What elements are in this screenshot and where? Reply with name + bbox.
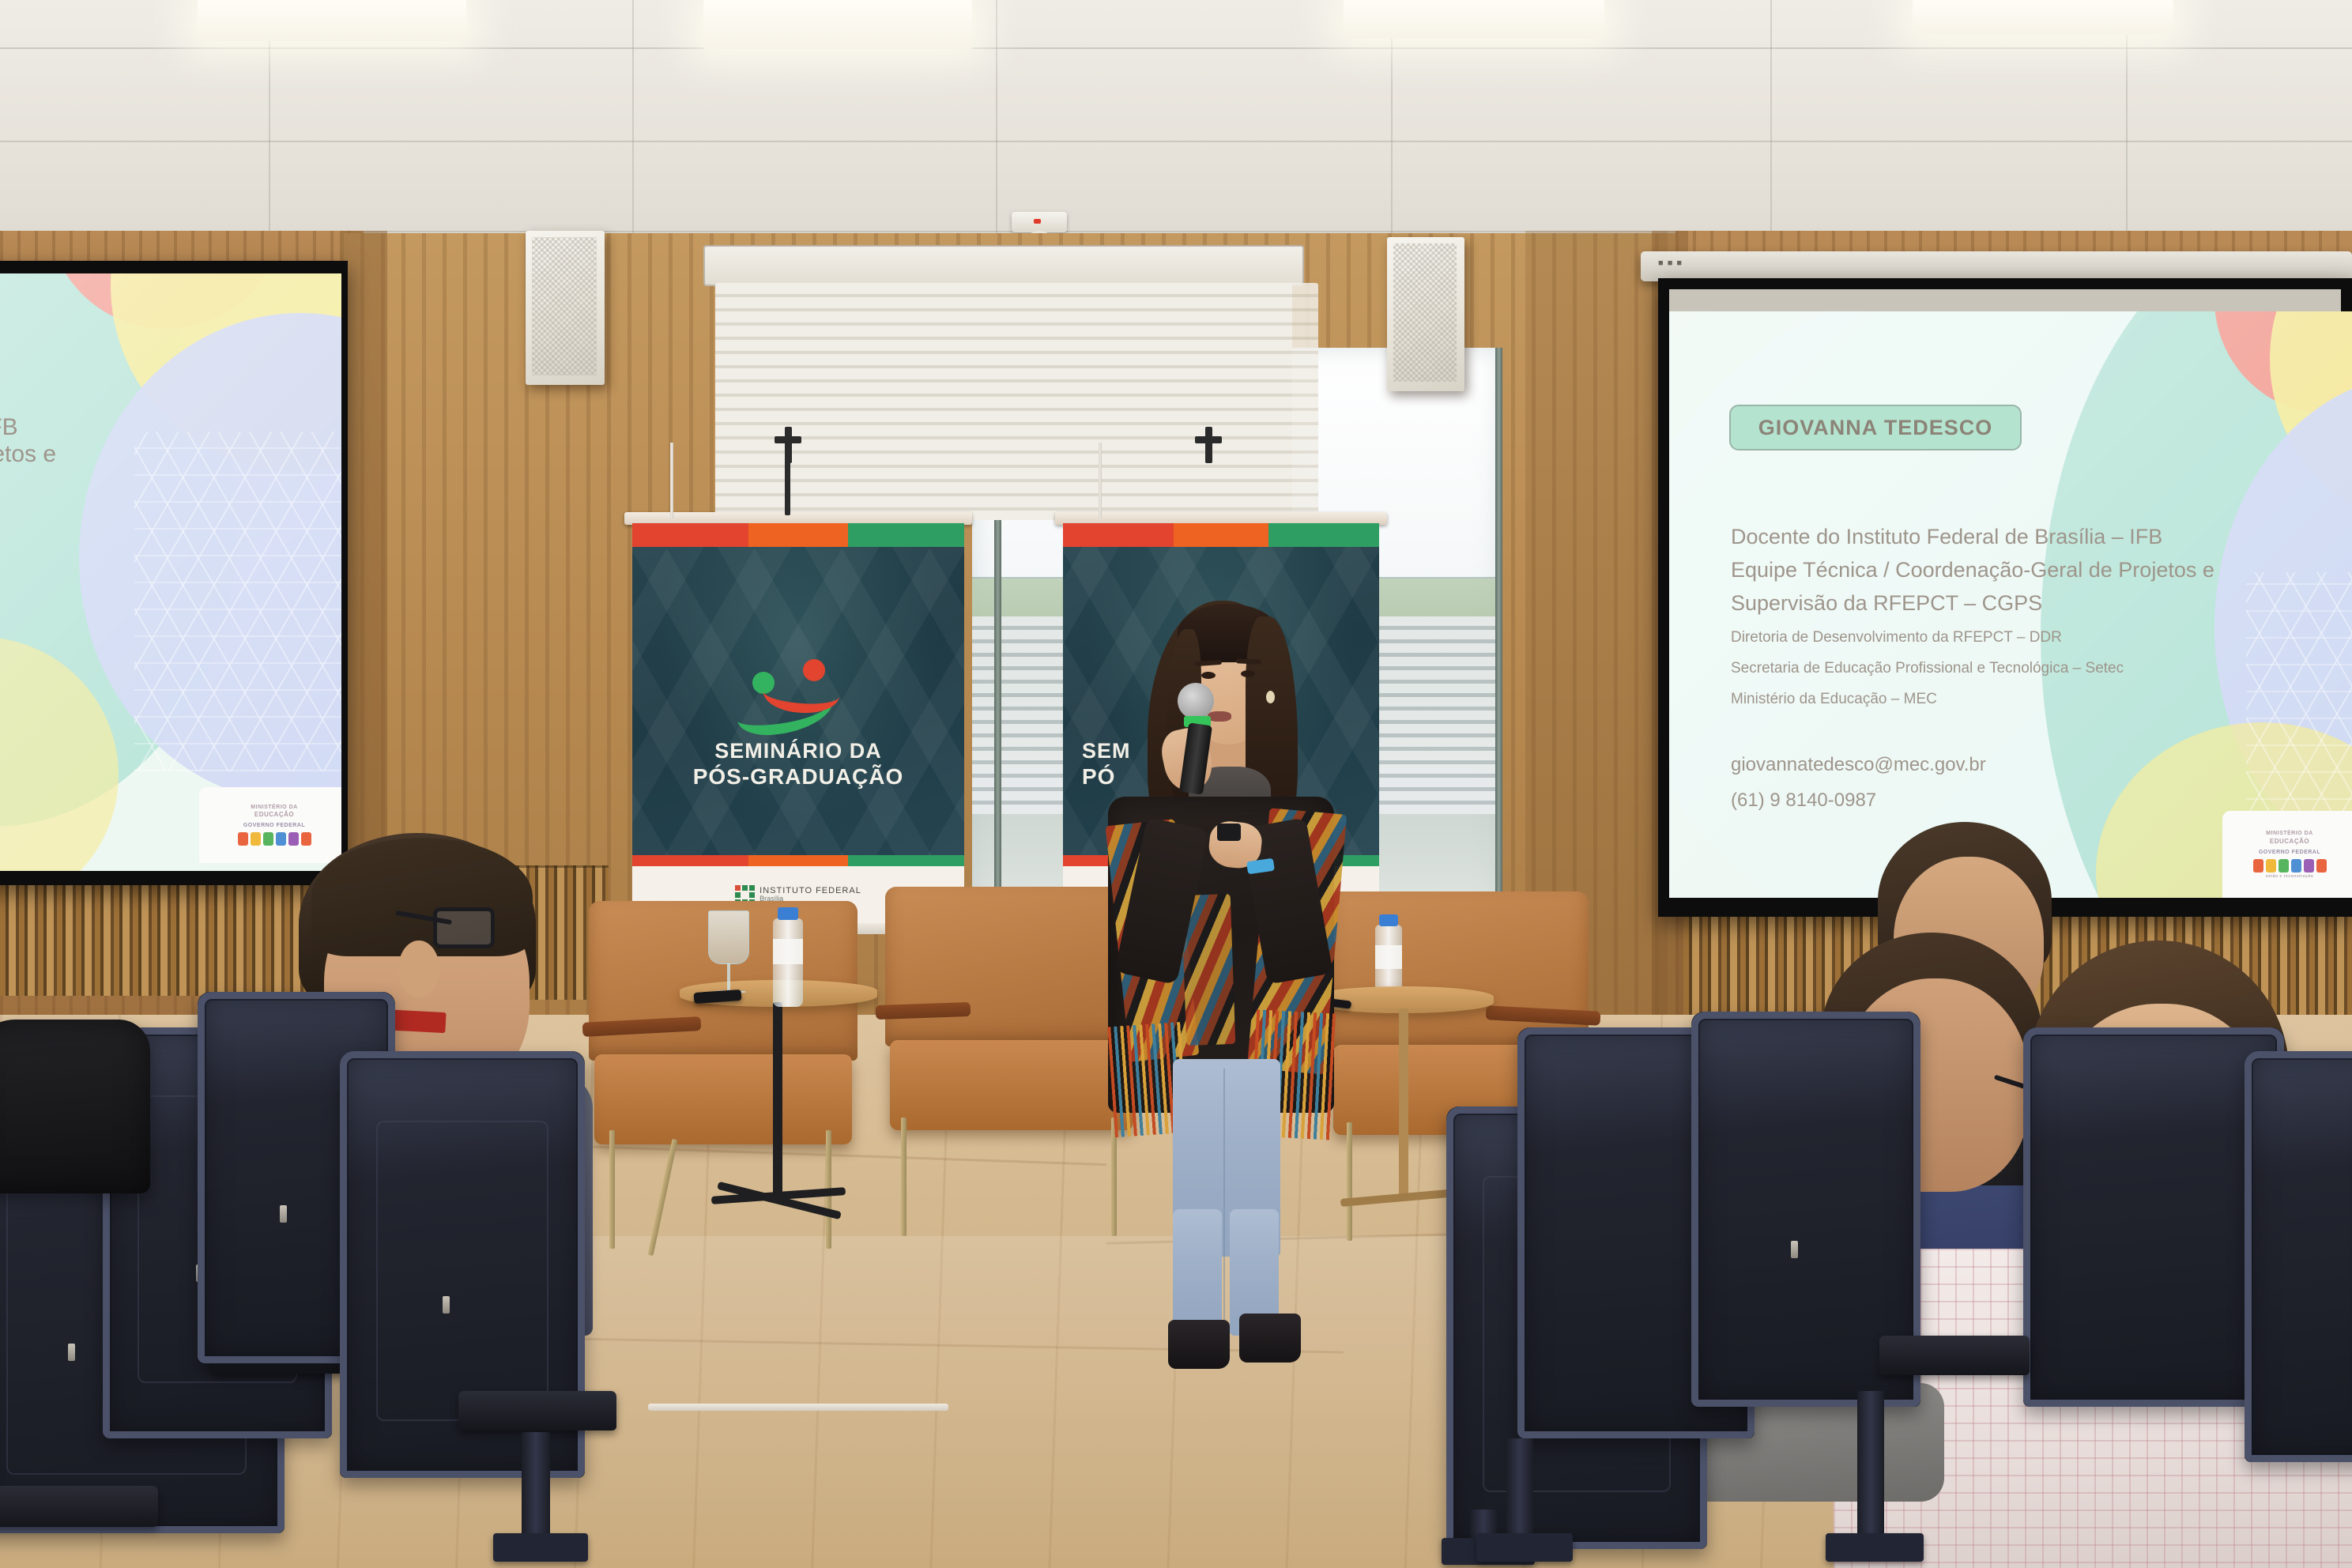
seat-armrest (0, 1486, 158, 1527)
seat-armrest (458, 1391, 616, 1430)
seat-panel-line (376, 1121, 548, 1421)
seat-number-tag (68, 1344, 75, 1361)
presenter-eye (1201, 672, 1216, 679)
banner-pole-stem (785, 443, 790, 515)
if-logo-text: INSTITUTO FEDERAL Brasília (759, 887, 861, 903)
seat-number-tag (1791, 1241, 1798, 1258)
ceiling-light-panel (1913, 0, 2173, 35)
ministry-line-1: MINISTÉRIO DA (2266, 831, 2312, 837)
government-label: GOVERNO FEDERAL (2259, 850, 2320, 856)
slide-primary-line-2: Equipe Técnica / Coordenação-Geral de Pr… (1731, 558, 2214, 582)
water-glass-stem (727, 963, 730, 992)
window-blind-housing[interactable] (703, 245, 1304, 286)
banner-top-stripe (632, 523, 964, 547)
attendee-left-ear (398, 940, 439, 997)
presenter (1091, 585, 1359, 1304)
ceiling-grid-line (996, 0, 997, 237)
slide-left: IFB rojetos e MINISTÉRIO DA EDUCAÇÃO GOV… (0, 273, 341, 871)
water-glass[interactable] (708, 910, 749, 964)
ceiling-grid-line (632, 0, 634, 237)
presenter-eye (1241, 670, 1255, 677)
window-mullion (1495, 348, 1502, 948)
slide-primary-line-3: Supervisão da RFEPCT – CGPS (1731, 591, 2042, 616)
side-table-stem (1399, 1008, 1408, 1197)
projection-screen-left: IFB rojetos e MINISTÉRIO DA EDUCAÇÃO GOV… (0, 261, 348, 885)
screen-border (1669, 289, 2341, 311)
slide-email: giovannatedesco@mec.gov.br (1731, 754, 1986, 776)
slide-secondary-line-1: Diretoria de Desenvolvimento da RFEPCT –… (1731, 629, 2062, 646)
wall-speaker-right (1387, 237, 1464, 391)
ministry-line-2: EDUCAÇÃO (2270, 838, 2309, 845)
presenter-jeans-seam (1223, 1069, 1225, 1329)
presenter-boot-left (1168, 1320, 1230, 1369)
slide-phone: (61) 9 8140-0987 (1731, 790, 1876, 812)
seat-pedestal (1857, 1391, 1884, 1541)
banner-title-line-1: SEMINÁRIO DA (632, 740, 964, 763)
slide-text-fragment-ifb: IFB (0, 414, 18, 441)
ceiling-grid-line (1770, 0, 1772, 237)
ceiling-grid-line (0, 141, 2352, 142)
seat-base-plate (1476, 1533, 1573, 1562)
banner-body: SEMINÁRIO DA PÓS-GRADUAÇÃO (632, 547, 964, 855)
banner-bottom-stripe (632, 855, 964, 866)
presentation-clicker[interactable] (1217, 824, 1241, 841)
armchair-leg (901, 1118, 906, 1236)
side-table-stem (773, 1002, 782, 1197)
seat-number-tag (443, 1296, 450, 1314)
banner-pole-left (670, 443, 673, 518)
slide-name-badge-text: GIOVANNA TEDESCO (1758, 416, 1993, 440)
ceiling-light-panel (1344, 0, 1604, 38)
ceiling-light-panel (703, 0, 972, 49)
auditorium-seat[interactable] (2245, 1051, 2352, 1462)
projection-screen-right: GIOVANNA TEDESCO Docente do Instituto Fe… (1658, 278, 2352, 917)
slide-footer-logo-right: MINISTÉRIO DA EDUCAÇÃO GOVERNO FEDERAL u… (2222, 811, 2352, 898)
presenter-earring (1266, 691, 1275, 703)
coat-body (0, 1020, 150, 1193)
ceiling-grid-line (2126, 0, 2128, 237)
seat-base-plate (493, 1533, 588, 1562)
slide-text-fragment-projetos: rojetos e (0, 441, 56, 468)
water-bottle-cap (778, 907, 798, 920)
banner-pole-stem (1205, 427, 1212, 463)
armchair-leg (647, 1139, 677, 1256)
slide-name-badge: GIOVANNA TEDESCO (1729, 405, 2022, 450)
banner-pole-right (1099, 443, 1102, 518)
draped-coat (0, 1020, 150, 1193)
slide-geometric-pattern (134, 432, 341, 771)
camera-led-icon (1034, 219, 1041, 224)
slide-right: GIOVANNA TEDESCO Docente do Instituto Fe… (1669, 311, 2352, 898)
water-bottle-label-right (1375, 945, 1402, 969)
screen-housing-label: ■ ■ ■ (1658, 258, 1683, 268)
projection-screen-housing-right[interactable]: ■ ■ ■ (1641, 251, 2352, 281)
wall-speaker-left (526, 231, 605, 385)
attendee-left-hair-top (311, 838, 533, 956)
photo-scene: IFB rojetos e MINISTÉRIO DA EDUCAÇÃO GOV… (0, 0, 2352, 1568)
window-blind-slats[interactable] (715, 283, 1292, 520)
water-bottle-cap-right (1379, 914, 1398, 926)
seat-frame (2245, 1051, 2352, 1462)
banner-top-stripe (1063, 523, 1379, 547)
banner-people-logo-icon (735, 658, 861, 729)
rollup-banner-left: SEMINÁRIO DA PÓS-GRADUAÇÃO INSTITUTO FED… (632, 512, 964, 923)
presenter-boot-right (1239, 1314, 1301, 1363)
water-bottle-label (773, 939, 803, 964)
slide-secondary-line-3: Ministério da Educação – MEC (1731, 691, 1937, 708)
side-table[interactable] (680, 980, 877, 1233)
government-tagline: união e reconstrução (2266, 875, 2314, 880)
brasil-wordmark-icon (2253, 859, 2327, 873)
seat-pedestal (522, 1432, 550, 1543)
seat-base-plate (1826, 1533, 1924, 1562)
presenter-jeans-leg-left (1173, 1209, 1222, 1336)
slide-secondary-line-2: Secretaria de Educação Profissional e Te… (1731, 660, 2124, 677)
banner-title-line-2: PÓS-GRADUAÇÃO (632, 765, 964, 789)
seat-pedestal (1506, 1438, 1533, 1541)
ceiling-light-panel (198, 0, 466, 41)
eyeglasses-lens (433, 907, 495, 948)
ceiling-grid-line (0, 47, 2352, 49)
seat-number-tag (280, 1205, 287, 1223)
presenter-mouth (1208, 711, 1231, 722)
banner-base (648, 1404, 948, 1411)
seat-armrest (1879, 1336, 2030, 1375)
window-blind-slats[interactable] (1223, 283, 1318, 520)
slide-primary-line-1: Docente do Instituto Federal de Brasília… (1731, 525, 2162, 549)
microphone-head-icon (1178, 683, 1214, 719)
